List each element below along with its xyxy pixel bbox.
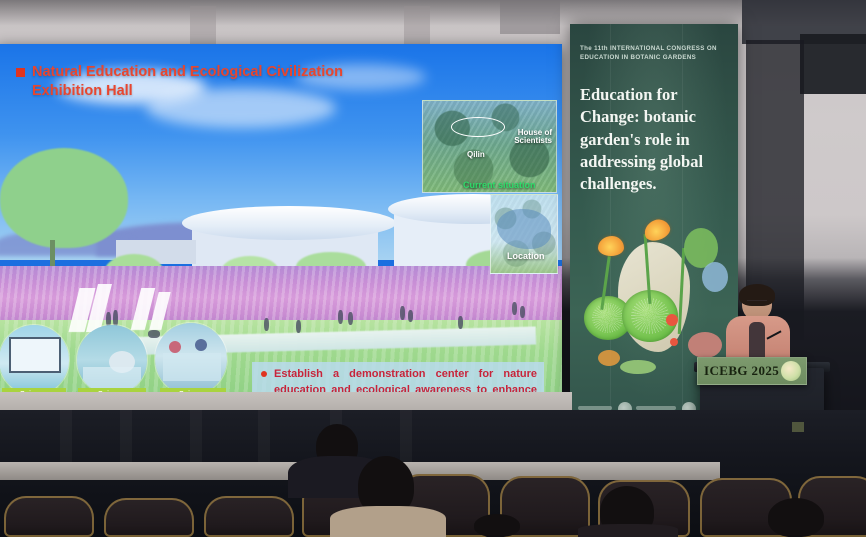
inset-label-house-of-scientists: House of Scientists (490, 129, 552, 146)
presentation-slide: Natural Education and Ecological Civiliz… (0, 44, 562, 392)
banner-kicker-text: The 11th INTERNATIONAL CONGRESS ON EDUCA… (580, 44, 730, 63)
auditorium-seat (204, 496, 294, 537)
exhibit-screen (9, 337, 61, 373)
circle-photo-exhibition (0, 324, 70, 392)
exit-sign-icon (792, 422, 804, 432)
student (195, 339, 207, 351)
conference-room-photo: Natural Education and Ecological Civiliz… (0, 0, 866, 537)
figure (296, 320, 301, 333)
banner-title-text: Education for Change: botanic garden's r… (580, 84, 732, 195)
blue-flowers (702, 262, 728, 292)
figure (520, 306, 525, 318)
speaker-glasses (747, 300, 767, 306)
bullet-dot-icon (261, 371, 267, 377)
podium-sign: ICEBG 2025 (697, 357, 807, 385)
figure (408, 310, 413, 322)
ceiling-shadow (0, 0, 866, 26)
exhibition-hall-roof (182, 206, 396, 240)
inset-label-current-situation: Current situation (463, 181, 536, 190)
circle-photo-classroom (154, 322, 228, 392)
classroom-desks (163, 353, 221, 381)
auditorium-seat (104, 498, 194, 537)
wall-panel (404, 6, 430, 46)
inset-photo-location: Location (490, 194, 558, 274)
slide-bullet-box: Establish a demonstration center for nat… (252, 362, 544, 392)
aerial-photo-texture (423, 101, 556, 192)
inset-label-qilin: Qilin (467, 151, 485, 159)
slide-title: Natural Education and Ecological Civiliz… (32, 63, 402, 101)
floral-emblem-icon (781, 361, 801, 381)
figure (264, 318, 269, 331)
figure (400, 306, 405, 320)
audience-shoulders (330, 506, 446, 537)
lily-flower-icon (598, 236, 624, 256)
inset-label-location: Location (507, 252, 545, 261)
projection-screen: Natural Education and Ecological Civiliz… (0, 44, 562, 392)
red-berry-icon (666, 314, 678, 326)
audience-head (474, 514, 520, 537)
small-bloom (598, 350, 620, 366)
wall-panel (500, 0, 560, 34)
rear-dark-panel (800, 34, 866, 94)
title-bullet-icon (16, 68, 25, 77)
podium-sign-text: ICEBG 2025 (704, 363, 779, 379)
red-berry-icon (670, 338, 678, 346)
inset-photo-current-situation: House of Scientists Qilin Current situat… (422, 100, 557, 193)
figure (512, 302, 517, 315)
circle-photo-commentary (76, 324, 148, 392)
audience-shoulders (578, 524, 678, 537)
slide-bullet-text: Establish a demonstration center for nat… (274, 367, 537, 392)
audience-head (768, 498, 824, 537)
student (169, 341, 181, 353)
figure (348, 312, 353, 325)
tree-canopy (0, 148, 128, 248)
figure (338, 310, 343, 324)
pink-bloom (688, 332, 722, 358)
foliage (620, 360, 656, 374)
group-figures (83, 367, 141, 389)
figure (458, 316, 463, 329)
auditorium-seat (4, 496, 94, 537)
